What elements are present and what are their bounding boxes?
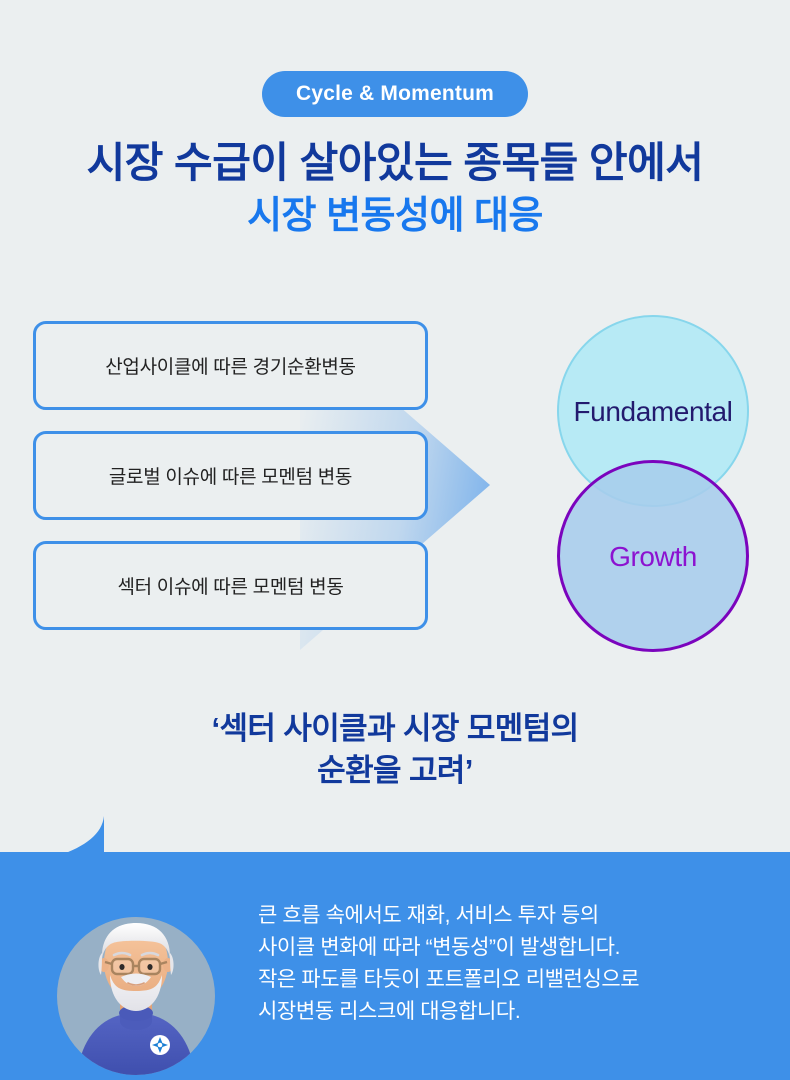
quote-line-2: 순환을 고려’ <box>0 750 790 792</box>
footer-line-3: 작은 파도를 타듯이 포트폴리오 리밸런싱으로 <box>258 964 639 996</box>
badge-container: Cycle & Momentum <box>0 71 790 117</box>
circle-growth-label: Growth <box>609 541 697 573</box>
speech-bubble-tail-icon <box>58 816 104 856</box>
factor-box-label: 산업사이클에 따른 경기순환변동 <box>105 352 355 379</box>
diagram-area: 산업사이클에 따른 경기순환변동 글로벌 이슈에 따른 모멘텀 변동 섹터 이슈… <box>0 315 790 660</box>
quote-line-1: ‘섹터 사이클과 시장 모멘텀의 <box>0 708 790 750</box>
headline-line-1: 시장 수급이 살아있는 종목들 안에서 <box>0 138 790 188</box>
footer-line-1: 큰 흐름 속에서도 재화, 서비스 투자 등의 <box>258 900 639 932</box>
factor-box: 섹터 이슈에 따른 모멘텀 변동 <box>33 541 428 630</box>
elderly-man-avatar-icon <box>57 917 215 1075</box>
factor-box-label: 글로벌 이슈에 따른 모멘텀 변동 <box>109 462 352 489</box>
circle-fundamental-label: Fundamental <box>573 396 732 428</box>
infographic-page: Cycle & Momentum 시장 수급이 살아있는 종목들 안에서 시장 … <box>0 0 790 1080</box>
footer-line-4: 시장변동 리스크에 대응합니다. <box>258 996 639 1028</box>
circle-growth: Growth <box>557 460 749 652</box>
footer-line-2: 사이클 변화에 따라 “변동성”이 발생합니다. <box>258 932 639 964</box>
footer-callout: 큰 흐름 속에서도 재화, 서비스 투자 등의 사이클 변화에 따라 “변동성”… <box>0 852 790 1080</box>
footer-description: 큰 흐름 속에서도 재화, 서비스 투자 등의 사이클 변화에 따라 “변동성”… <box>258 900 639 1028</box>
quote-block: ‘섹터 사이클과 시장 모멘텀의 순환을 고려’ <box>0 708 790 793</box>
page-title: 시장 수급이 살아있는 종목들 안에서 시장 변동성에 대응 <box>0 138 790 239</box>
factor-box: 글로벌 이슈에 따른 모멘텀 변동 <box>33 431 428 520</box>
section-badge: Cycle & Momentum <box>262 71 528 117</box>
factor-box: 산업사이클에 따른 경기순환변동 <box>33 321 428 410</box>
factor-box-list: 산업사이클에 따른 경기순환변동 글로벌 이슈에 따른 모멘텀 변동 섹터 이슈… <box>33 321 428 651</box>
headline-line-2: 시장 변동성에 대응 <box>0 194 790 240</box>
factor-box-label: 섹터 이슈에 따른 모멘텀 변동 <box>117 572 343 599</box>
